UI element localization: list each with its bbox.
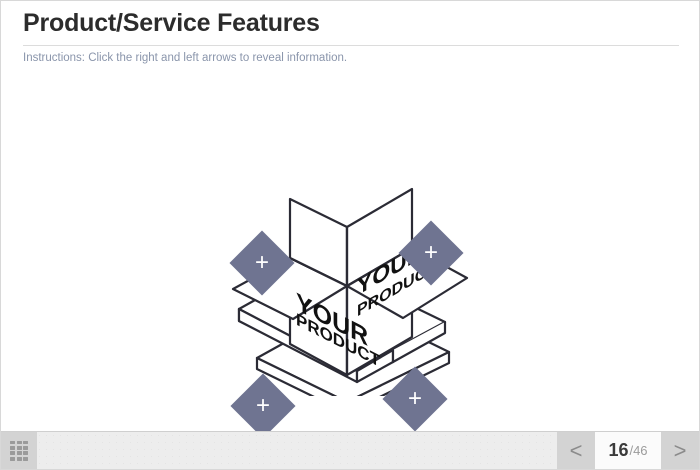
previous-slide-button[interactable]: < [557,432,595,469]
plus-icon: + [408,387,422,411]
title-divider [23,45,679,46]
chevron-right-icon: > [674,440,687,462]
plus-icon: + [256,394,270,418]
illustration-stage: YOUR PRODUCT YOUR PRODUCT + + + + [1,81,699,433]
plus-icon: + [424,241,438,265]
page-total-number: /46 [629,443,647,458]
slide-container: Product/Service Features Instructions: C… [0,0,700,470]
instructions-text: Instructions: Click the right and left a… [23,52,347,64]
page-counter: 16/46 [595,432,661,469]
chevron-left-icon: < [570,440,583,462]
page-title: Product/Service Features [23,9,320,38]
bottom-toolbar: < 16/46 > [1,431,699,469]
next-slide-button[interactable]: > [661,432,699,469]
menu-button[interactable] [1,432,37,469]
plus-icon: + [255,251,269,275]
navigation-group: < 16/46 > [557,432,699,469]
grid-icon [10,441,28,461]
page-current-number: 16 [608,440,628,461]
